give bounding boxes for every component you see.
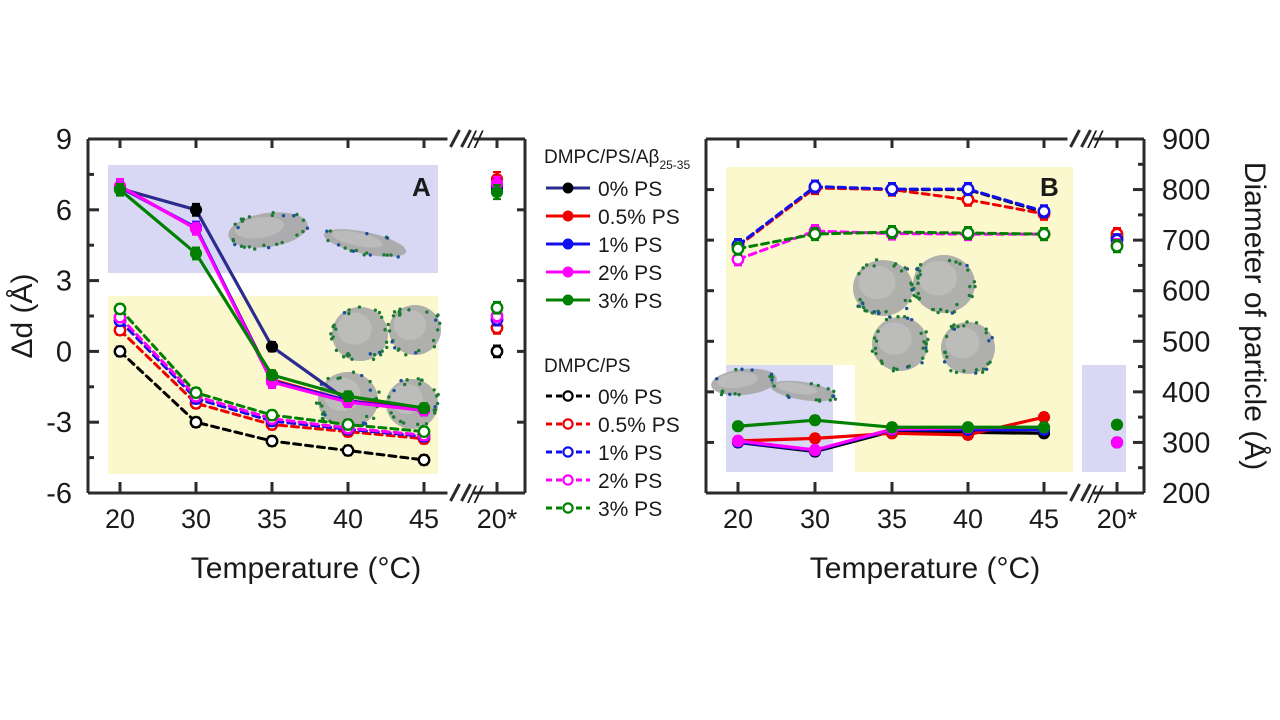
particle-peptide-dot	[975, 368, 978, 371]
particle-peptide-dot	[360, 374, 363, 377]
legend-1-title-main: DMPC/PS/Aβ	[544, 147, 660, 168]
particle-peptide-dot	[388, 329, 391, 332]
particle-peptide-dot	[347, 312, 350, 315]
particle-peptide-dot	[381, 349, 384, 352]
particle-peptide-dot	[945, 309, 948, 312]
particle-peptide-dot	[393, 346, 396, 349]
data-point-marker	[1039, 422, 1050, 433]
figure-root: 203035404520* 9630-3-6 A Temperature (°C…	[0, 0, 1280, 720]
particle-peptide-dot	[387, 395, 390, 398]
data-point-marker	[810, 415, 821, 426]
data-point-marker	[963, 228, 973, 238]
particle-peptide-dot	[904, 299, 907, 302]
particle-peptide-dot	[418, 382, 421, 385]
particle-peptide-dot	[858, 305, 861, 308]
data-point-marker	[267, 370, 278, 381]
particle-peptide-dot	[906, 317, 909, 320]
particle-peptide-dot	[958, 262, 961, 265]
particle-peptide-dot	[362, 421, 365, 424]
particle-peptide-dot	[425, 422, 428, 425]
legend-entry-label: 1% PS	[598, 234, 662, 257]
panel-b-axis-break-top: //	[1086, 127, 1104, 154]
particle-peptide-dot	[392, 314, 395, 317]
particle-peptide-dot	[920, 361, 923, 364]
particle-peptide-dot	[948, 259, 951, 262]
data-point-marker	[115, 304, 125, 314]
panel-b-x-tick-label: 35	[877, 504, 907, 534]
particle-peptide-dot	[398, 313, 401, 316]
particle-peptide-dot	[985, 368, 988, 371]
particle-peptide-dot	[342, 355, 345, 358]
particle-peptide-dot	[973, 285, 976, 288]
panel-b-axis-break-bottom: //	[1086, 482, 1104, 509]
particle-peptide-dot	[880, 362, 883, 365]
particle-peptide-dot	[397, 347, 400, 350]
particle-peptide-dot	[392, 389, 395, 392]
particle-peptide-dot	[896, 315, 899, 318]
panel-b-y-tick-label: 800	[1162, 175, 1210, 207]
particle-peptide-dot	[326, 377, 329, 380]
legend-entry-label: 3% PS	[598, 290, 662, 313]
particle-peptide-dot	[858, 298, 861, 301]
legend-1-title-sub: 25-35	[659, 158, 690, 172]
panel-b-y-axis-title: Diameter of particle (Å)	[1238, 162, 1271, 470]
legend-marker-swatch	[563, 475, 572, 484]
particle-peptide-dot	[951, 311, 954, 314]
particle-highlight	[919, 261, 957, 296]
panel-a-y-tick-label: 6	[56, 195, 72, 227]
particle-peptide-dot	[921, 346, 924, 349]
particle-peptide-dot	[385, 341, 388, 344]
particle-peptide-dot	[965, 264, 968, 267]
data-point-marker	[810, 181, 820, 191]
band-lavender-b-right	[1082, 365, 1126, 472]
particle-peptide-dot	[982, 368, 985, 371]
particle-peptide-dot	[973, 280, 976, 283]
particle-peptide-dot	[392, 415, 395, 418]
particle-peptide-dot	[433, 345, 436, 348]
data-point-marker	[1039, 206, 1049, 216]
particle-peptide-dot	[436, 402, 439, 405]
particle-peptide-dot	[916, 282, 919, 285]
data-point-marker	[887, 227, 897, 237]
particle-peptide-dot	[985, 331, 988, 334]
particle-peptide-dot	[924, 341, 927, 344]
data-point-marker	[733, 436, 744, 447]
particle-peptide-dot	[417, 377, 420, 380]
panel-a-y-tick-label: -6	[46, 478, 72, 510]
legend-marker-swatch	[563, 295, 573, 305]
legend-marker-swatch	[563, 239, 573, 249]
particle-peptide-dot	[332, 324, 335, 327]
particle-peptide-dot	[399, 420, 402, 423]
particle-peptide-dot	[323, 413, 326, 416]
particle-peptide-dot	[389, 411, 392, 414]
particle-peptide-dot	[903, 266, 906, 269]
particle-peptide-dot	[347, 308, 350, 311]
particle-peptide-dot	[939, 308, 942, 311]
particle-peptide-dot	[433, 408, 436, 411]
particle-peptide-dot	[900, 269, 903, 272]
data-point-marker	[419, 426, 429, 436]
data-point-marker	[419, 403, 430, 414]
particle-peptide-dot	[432, 339, 435, 342]
particle-peptide-dot	[372, 358, 375, 361]
panel-a-y-axis-title: Δd (Å)	[6, 273, 39, 358]
particle-peptide-dot	[987, 339, 990, 342]
particle-peptide-dot	[925, 330, 928, 333]
legend-entry-label: 0.5% PS	[598, 414, 680, 437]
particle-peptide-dot	[352, 371, 355, 374]
particle-peptide-dot	[368, 380, 371, 383]
data-point-marker	[191, 223, 202, 234]
panel-a-x-tick-label: 45	[409, 504, 439, 534]
particle-peptide-dot	[873, 336, 876, 339]
particle-peptide-dot	[374, 308, 377, 311]
particle-peptide-dot	[874, 352, 877, 355]
particle-peptide-dot	[372, 417, 375, 420]
particle-peptide-dot	[390, 340, 393, 343]
panel-a-axis-break-bottom: //	[466, 482, 484, 509]
particle-peptide-dot	[330, 337, 333, 340]
particle-peptide-dot	[984, 327, 987, 330]
particle-peptide-dot	[369, 388, 372, 391]
panel-a-x-tick-label: 20*	[477, 504, 518, 534]
data-point-marker	[191, 248, 202, 259]
particle-peptide-dot	[865, 309, 868, 312]
data-point-marker	[963, 184, 973, 194]
particle-peptide-dot	[377, 390, 380, 393]
particle-peptide-dot	[378, 311, 381, 314]
particle-peptide-dot	[875, 258, 878, 261]
particle-peptide-dot	[988, 360, 991, 363]
panel-b-y-tick-label: 300	[1162, 427, 1210, 459]
particle-peptide-dot	[436, 328, 439, 331]
panel-a-y-tick-label: 0	[56, 336, 72, 368]
particle-peptide-dot	[875, 339, 878, 342]
data-point-marker	[115, 184, 126, 195]
data-point-marker	[492, 187, 503, 198]
particle-peptide-dot	[953, 327, 956, 330]
legend-marker-swatch	[563, 267, 573, 277]
particle-peptide-dot	[936, 311, 939, 314]
data-point-marker	[343, 391, 354, 402]
data-point-marker	[810, 229, 820, 239]
particle-peptide-dot	[334, 327, 337, 330]
panel-b-y-tick-label: 600	[1162, 276, 1210, 308]
panel-b-y-tick-label: 900	[1162, 124, 1210, 156]
panel-b-label: B	[1040, 172, 1059, 202]
particle-peptide-dot	[926, 338, 929, 341]
data-point-marker	[492, 346, 502, 356]
particle-peptide-dot	[954, 260, 957, 263]
data-point-marker	[1039, 229, 1049, 239]
particle-peptide-dot	[861, 302, 864, 305]
data-point-marker	[267, 410, 277, 420]
particle-peptide-dot	[318, 402, 321, 405]
data-point-marker	[343, 419, 353, 429]
data-point-marker	[267, 341, 278, 352]
particle-peptide-dot	[915, 268, 918, 271]
panel-b-y-tick-label: 700	[1162, 225, 1210, 257]
particle-peptide-dot	[861, 266, 864, 269]
particle-peptide-dot	[910, 283, 913, 286]
particle-peptide-dot	[393, 310, 396, 313]
particle-peptide-dot	[432, 388, 435, 391]
particle-peptide-dot	[908, 364, 911, 367]
data-point-marker	[115, 346, 125, 356]
particle-peptide-dot	[871, 349, 874, 352]
particle-peptide-dot	[892, 369, 895, 372]
particle-peptide-dot	[369, 352, 372, 355]
legend-marker-swatch	[563, 503, 572, 512]
data-point-marker	[1112, 241, 1122, 251]
particle-peptide-dot	[919, 332, 922, 335]
particle-peptide-dot	[434, 318, 437, 321]
particle-peptide-dot	[435, 314, 438, 317]
legend-marker-swatch	[563, 391, 572, 400]
legend-2-title: DMPC/PS	[544, 356, 631, 377]
panel-b-x-tick-label: 40	[953, 504, 983, 534]
particle-peptide-dot	[315, 401, 318, 404]
particle-highlight	[946, 327, 979, 358]
legend-marker-swatch	[563, 183, 573, 193]
data-point-marker	[419, 455, 429, 465]
particle-peptide-dot	[918, 297, 921, 300]
particle-peptide-dot	[425, 310, 428, 313]
particle-peptide-dot	[968, 294, 971, 297]
particle-peptide-dot	[990, 336, 993, 339]
particle-peptide-dot	[329, 332, 332, 335]
particle-peptide-dot	[416, 423, 419, 426]
particle-peptide-dot	[892, 264, 895, 267]
particle-peptide-dot	[874, 347, 877, 350]
particle-peptide-dot	[348, 353, 351, 356]
panel-a-x-tick-label: 30	[181, 504, 211, 534]
particle-peptide-dot	[962, 369, 965, 372]
particle-peptide-dot	[885, 318, 888, 321]
panel-a-x-tick-label: 40	[333, 504, 363, 534]
data-point-marker	[733, 244, 743, 254]
legend-entry-label: 3% PS	[598, 498, 662, 521]
legend-entry-label: 2% PS	[598, 470, 662, 493]
particle-peptide-dot	[943, 360, 946, 363]
particle-peptide-dot	[398, 307, 401, 310]
particle-peptide-dot	[350, 357, 353, 360]
particle-peptide-dot	[865, 263, 868, 266]
panel-b-y-tick-label: 200	[1162, 478, 1210, 510]
particle-peptide-dot	[343, 311, 346, 314]
particle-peptide-dot	[365, 415, 368, 418]
particle-peptide-dot	[975, 321, 978, 324]
legend-marker-swatch	[563, 211, 573, 221]
data-point-marker	[343, 445, 353, 455]
particle-peptide-dot	[919, 263, 922, 266]
particle-peptide-dot	[952, 323, 955, 326]
particle-peptide-dot	[358, 305, 361, 308]
particle-peptide-dot	[862, 306, 865, 309]
data-point-marker	[492, 303, 502, 313]
panel-b-y-tick-label: 400	[1162, 377, 1210, 409]
particle-peptide-dot	[877, 311, 880, 314]
particle-peptide-dot	[383, 328, 386, 331]
panel-b-x-tick-label: 20	[723, 504, 753, 534]
particle-peptide-dot	[921, 357, 924, 360]
particle-peptide-dot	[908, 299, 911, 302]
particle-peptide-dot	[405, 378, 408, 381]
data-point-marker	[963, 422, 974, 433]
particle-peptide-dot	[974, 371, 977, 374]
data-point-marker	[810, 445, 821, 456]
panel-b-x-tick-label: 45	[1029, 504, 1059, 534]
particle-peptide-dot	[433, 405, 436, 408]
particle-peptide-dot	[962, 324, 965, 327]
panel-a-y-tick-label: -3	[46, 407, 72, 439]
particle-peptide-dot	[414, 351, 417, 354]
particle-peptide-dot	[373, 353, 376, 356]
particle-peptide-dot	[872, 264, 875, 267]
legend-entry-label: 1% PS	[598, 442, 662, 465]
data-point-marker	[810, 433, 821, 444]
particle-peptide-dot	[320, 404, 323, 407]
particle-peptide-dot	[335, 349, 338, 352]
panel-a-x-tick-label: 35	[257, 504, 287, 534]
particle-peptide-dot	[917, 292, 920, 295]
particle-peptide-dot	[399, 379, 402, 382]
particle-peptide-dot	[916, 276, 919, 279]
particle-peptide-dot	[420, 379, 423, 382]
particle-peptide-dot	[404, 353, 407, 356]
particle-peptide-dot	[944, 351, 947, 354]
panel-a-x-axis-title: Temperature (°C)	[191, 552, 421, 585]
particle-peptide-dot	[966, 268, 969, 271]
particle-peptide-dot	[884, 310, 887, 313]
particle-peptide-dot	[956, 325, 959, 328]
legend-marker-swatch	[563, 419, 572, 428]
particle-peptide-dot	[955, 371, 958, 374]
particle-peptide-dot	[407, 308, 410, 311]
particle-peptide-dot	[857, 272, 860, 275]
data-point-marker	[267, 436, 277, 446]
legend-entry-label: 2% PS	[598, 262, 662, 285]
panel-a-x-tick-label: 20	[105, 504, 135, 534]
data-point-marker	[191, 388, 201, 398]
particle-peptide-dot	[911, 288, 914, 291]
panel-a-y-tick-label: 3	[56, 266, 72, 298]
particle-peptide-dot	[965, 320, 968, 323]
particle-highlight	[877, 322, 912, 354]
particle-peptide-dot	[925, 349, 928, 352]
particle-peptide-dot	[910, 318, 913, 321]
particle-peptide-dot	[433, 411, 436, 414]
particle-peptide-dot	[380, 316, 383, 319]
data-point-marker	[191, 204, 202, 215]
particle-peptide-dot	[436, 393, 439, 396]
particle-peptide-dot	[932, 308, 935, 311]
data-point-marker	[1112, 437, 1123, 448]
particle-peptide-dot	[338, 376, 341, 379]
particle-peptide-dot	[876, 330, 879, 333]
legend-entry-label: 0% PS	[598, 386, 662, 409]
panel-a-label: A	[412, 172, 431, 202]
data-point-marker	[1039, 412, 1050, 423]
data-point-marker	[1112, 419, 1123, 430]
panel-b-x-tick-label: 20*	[1097, 504, 1138, 534]
particle-peptide-dot	[955, 303, 958, 306]
particle-peptide-dot	[385, 346, 388, 349]
particle-peptide-dot	[905, 307, 908, 310]
particle-peptide-dot	[945, 335, 948, 338]
data-point-marker	[733, 421, 744, 432]
legend-marker-swatch	[563, 447, 572, 456]
panel-b-x-tick-label: 30	[800, 504, 830, 534]
particle-highlight	[337, 312, 372, 344]
particle-peptide-dot	[981, 371, 984, 374]
panel-a-y-tick-label: 9	[56, 124, 72, 156]
data-point-marker	[887, 422, 898, 433]
panel-b-y-tick-label: 500	[1162, 326, 1210, 358]
particle-peptide-dot	[903, 315, 906, 318]
particle-peptide-dot	[968, 285, 971, 288]
data-point-marker	[191, 417, 201, 427]
particle-peptide-dot	[949, 369, 952, 372]
data-point-marker	[887, 184, 897, 194]
panel-b-x-axis-title: Temperature (°C)	[810, 552, 1040, 585]
legend-entry-label: 0% PS	[598, 178, 662, 201]
panel-a-axis-break-top: //	[466, 127, 484, 154]
particle-peptide-dot	[438, 322, 441, 325]
two-panel-figure: 203035404520* 9630-3-6 A Temperature (°C…	[0, 0, 1280, 720]
particle-peptide-dot	[871, 311, 874, 314]
particle-peptide-dot	[895, 368, 898, 371]
particle-peptide-dot	[945, 355, 948, 358]
particle-peptide-dot	[387, 323, 390, 326]
legend-entry-label: 0.5% PS	[598, 206, 680, 229]
particle-peptide-dot	[402, 421, 405, 424]
particle-highlight	[858, 266, 895, 300]
particle-peptide-dot	[403, 383, 406, 386]
particle-peptide-dot	[417, 349, 420, 352]
particle-peptide-dot	[918, 269, 921, 272]
